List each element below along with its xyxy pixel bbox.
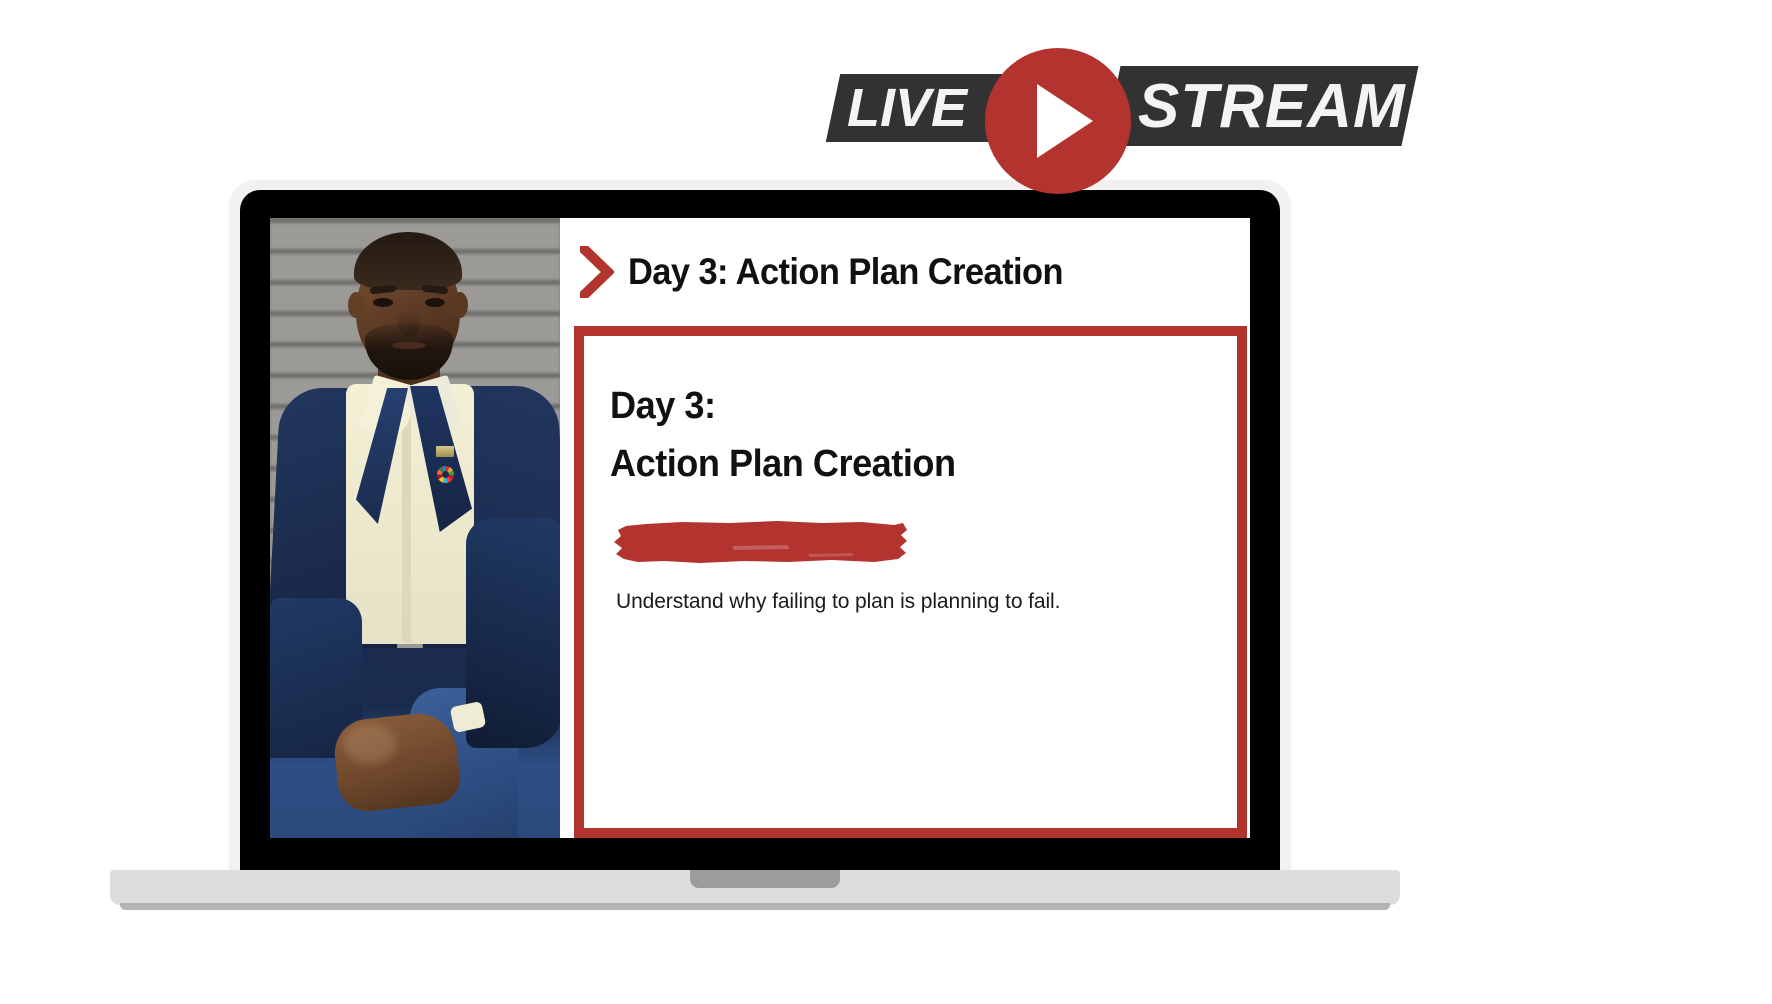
eye-left — [373, 298, 393, 307]
slide-title-line-2: Action Plan Creation — [610, 436, 1206, 494]
mouth — [392, 342, 426, 349]
slide-header: Day 3: Action Plan Creation — [560, 218, 1250, 326]
slide-panel: Day 3: Action Plan Creation Day 3: Actio… — [560, 218, 1250, 838]
laptop-base-shadow — [120, 903, 1390, 910]
live-stream-badge: LIVE STREAM — [825, 48, 1425, 198]
stream-label: STREAM — [1138, 71, 1406, 142]
ear-right — [452, 292, 468, 318]
slide-header-title: Day 3: Action Plan Creation — [628, 251, 1063, 293]
clasped-hands — [332, 710, 463, 814]
play-button[interactable] — [985, 48, 1131, 194]
hand-highlight — [344, 724, 396, 764]
shirt-placket — [402, 394, 411, 642]
play-triangle-icon — [1037, 84, 1093, 158]
sdg-wheel-pin-icon — [437, 466, 454, 483]
laptop-base-notch — [690, 870, 840, 888]
slide-card-inner: Day 3: Action Plan Creation Understand w… — [584, 336, 1237, 614]
speaker-portrait-photo — [270, 218, 560, 838]
red-brush-stroke-mark — [612, 516, 912, 568]
slide-content-card: Day 3: Action Plan Creation Understand w… — [574, 326, 1247, 838]
stream-banner: STREAM — [1103, 66, 1418, 146]
gold-lapel-pin-icon — [436, 446, 454, 457]
slide-title-line-1: Day 3: — [610, 378, 1206, 436]
live-label: LIVE — [847, 77, 967, 139]
laptop-device: Day 3: Action Plan Creation Day 3: Actio… — [110, 170, 1400, 910]
ear-left — [348, 292, 364, 318]
slide-body-text: Understand why failing to plan is planni… — [616, 590, 1237, 614]
laptop-screen: Day 3: Action Plan Creation Day 3: Actio… — [270, 218, 1250, 838]
presentation-mockup-canvas: Day 3: Action Plan Creation Day 3: Actio… — [0, 0, 1772, 1004]
eye-right — [425, 298, 445, 307]
brush-stroke-icon — [612, 516, 912, 568]
chevron-right-icon — [580, 246, 614, 298]
